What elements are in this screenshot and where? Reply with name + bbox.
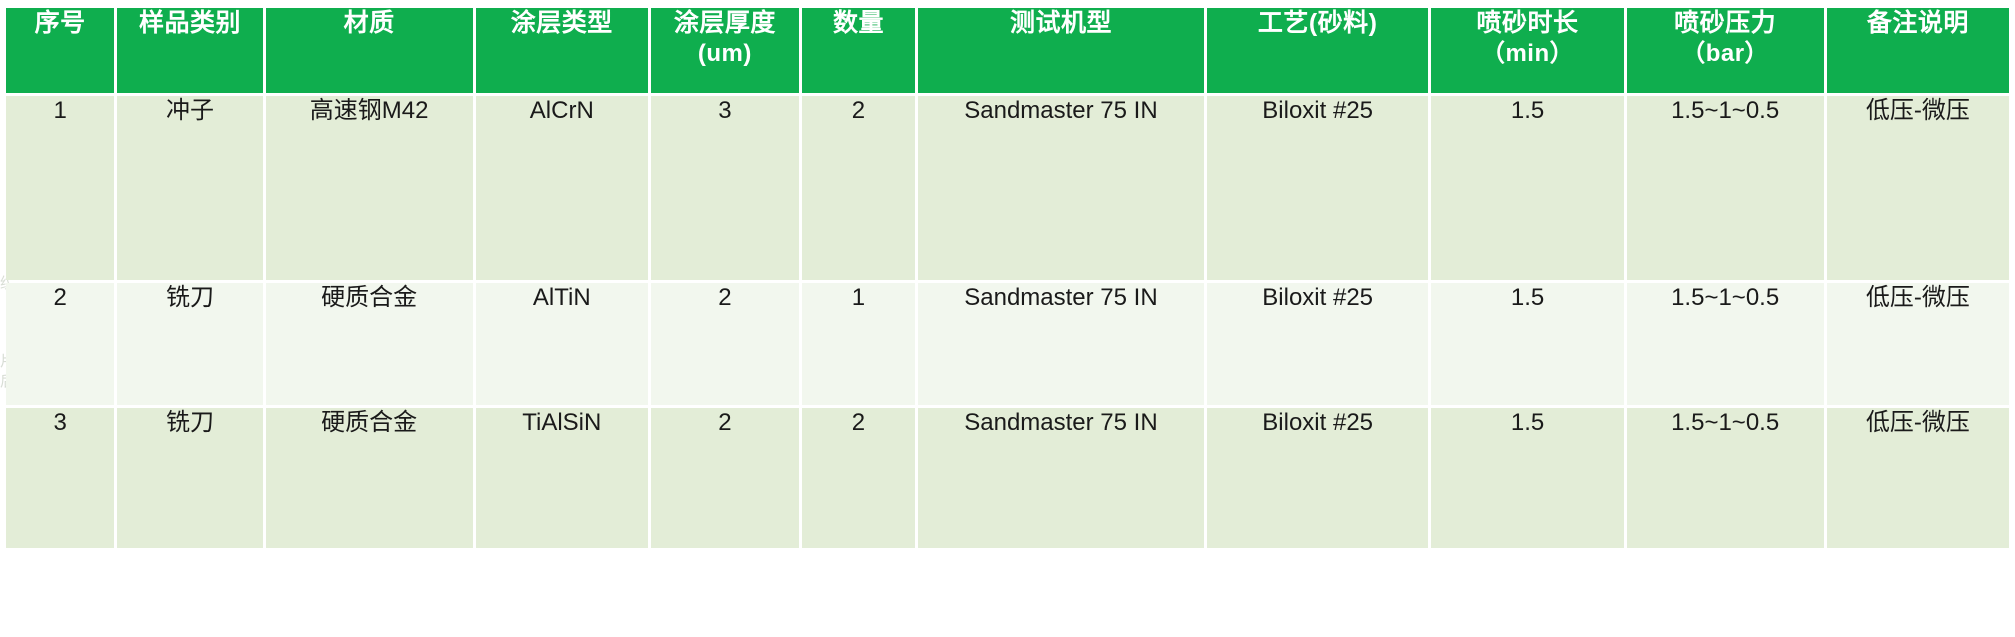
column-header-quantity: 数量 bbox=[802, 8, 915, 93]
column-header-coating-thickness-label: 涂层厚度 bbox=[674, 9, 776, 37]
column-header-blast-time: 喷砂时长（min） bbox=[1431, 8, 1623, 93]
cell-quantity: 1 bbox=[802, 283, 915, 405]
column-header-seq: 序号 bbox=[6, 8, 114, 93]
cell-coating-thickness: 2 bbox=[651, 283, 799, 405]
cell-blast-time: 1.5 bbox=[1431, 283, 1623, 405]
cell-process-media: Biloxit #25 bbox=[1207, 408, 1429, 548]
cell-process-media: Biloxit #25 bbox=[1207, 96, 1429, 280]
column-header-blast-time-unit: （min） bbox=[1431, 39, 1623, 69]
table-header: 序号 样品类别 材质 涂层类型 涂层厚度(um) 数量 测试机型 工艺(砂料) … bbox=[6, 8, 2009, 93]
cell-sample-category: 铣刀 bbox=[117, 283, 262, 405]
cell-quantity: 2 bbox=[802, 96, 915, 280]
cell-remark: 低压-微压 bbox=[1827, 283, 2009, 405]
cell-blast-time: 1.5 bbox=[1431, 96, 1623, 280]
column-header-test-machine: 测试机型 bbox=[918, 8, 1204, 93]
column-header-remark: 备注说明 bbox=[1827, 8, 2009, 93]
column-header-blast-pressure-unit: （bar） bbox=[1627, 39, 1824, 69]
column-header-process-media-label: 工艺(砂料) bbox=[1258, 9, 1378, 37]
cell-blast-pressure: 1.5~1~0.5 bbox=[1627, 96, 1824, 280]
column-header-material-label: 材质 bbox=[344, 9, 395, 37]
cell-coating-thickness: 2 bbox=[651, 408, 799, 548]
cell-material: 硬质合金 bbox=[266, 283, 473, 405]
cell-material: 高速钢M42 bbox=[266, 96, 473, 280]
cell-quantity: 2 bbox=[802, 408, 915, 548]
cell-coating-type: TiAlSiN bbox=[476, 408, 648, 548]
cell-sample-category: 冲子 bbox=[117, 96, 262, 280]
column-header-blast-time-label: 喷砂时长 bbox=[1477, 9, 1579, 37]
cell-remark: 低压-微压 bbox=[1827, 96, 2009, 280]
cell-blast-time: 1.5 bbox=[1431, 408, 1623, 548]
cell-seq: 1 bbox=[6, 96, 114, 280]
cell-test-machine: Sandmaster 75 IN bbox=[918, 408, 1204, 548]
column-header-test-machine-label: 测试机型 bbox=[1010, 9, 1112, 37]
column-header-seq-label: 序号 bbox=[35, 9, 86, 37]
cell-coating-type: AlTiN bbox=[476, 283, 648, 405]
cell-test-machine: Sandmaster 75 IN bbox=[918, 283, 1204, 405]
spec-table-container: 序号 样品类别 材质 涂层类型 涂层厚度(um) 数量 测试机型 工艺(砂料) … bbox=[0, 0, 2015, 637]
cell-material: 硬质合金 bbox=[266, 408, 473, 548]
sandblasting-spec-table: 序号 样品类别 材质 涂层类型 涂层厚度(um) 数量 测试机型 工艺(砂料) … bbox=[3, 5, 2012, 551]
cell-test-machine: Sandmaster 75 IN bbox=[918, 96, 1204, 280]
table-body: 1 冲子 高速钢M42 AlCrN 3 2 Sandmaster 75 IN B… bbox=[6, 96, 2009, 548]
cell-coating-type: AlCrN bbox=[476, 96, 648, 280]
column-header-coating-thickness: 涂层厚度(um) bbox=[651, 8, 799, 93]
column-header-sample-category: 样品类别 bbox=[117, 8, 262, 93]
column-header-process-media: 工艺(砂料) bbox=[1207, 8, 1429, 93]
column-header-coating-thickness-unit: (um) bbox=[651, 39, 799, 69]
column-header-quantity-label: 数量 bbox=[833, 9, 884, 37]
column-header-blast-pressure: 喷砂压力（bar） bbox=[1627, 8, 1824, 93]
cell-coating-thickness: 3 bbox=[651, 96, 799, 280]
column-header-coating-type: 涂层类型 bbox=[476, 8, 648, 93]
cell-sample-category: 铣刀 bbox=[117, 408, 262, 548]
cell-seq: 2 bbox=[6, 283, 114, 405]
cell-seq: 3 bbox=[6, 408, 114, 548]
column-header-sample-category-label: 样品类别 bbox=[139, 9, 241, 37]
cell-blast-pressure: 1.5~1~0.5 bbox=[1627, 283, 1824, 405]
table-row: 2 铣刀 硬质合金 AlTiN 2 1 Sandmaster 75 IN Bil… bbox=[6, 283, 2009, 405]
cell-blast-pressure: 1.5~1~0.5 bbox=[1627, 408, 1824, 548]
table-row: 1 冲子 高速钢M42 AlCrN 3 2 Sandmaster 75 IN B… bbox=[6, 96, 2009, 280]
column-header-remark-label: 备注说明 bbox=[1867, 9, 1969, 37]
table-row: 3 铣刀 硬质合金 TiAlSiN 2 2 Sandmaster 75 IN B… bbox=[6, 408, 2009, 548]
cell-process-media: Biloxit #25 bbox=[1207, 283, 1429, 405]
cell-remark: 低压-微压 bbox=[1827, 408, 2009, 548]
column-header-blast-pressure-label: 喷砂压力 bbox=[1674, 9, 1776, 37]
column-header-coating-type-label: 涂层类型 bbox=[511, 9, 613, 37]
header-row: 序号 样品类别 材质 涂层类型 涂层厚度(um) 数量 测试机型 工艺(砂料) … bbox=[6, 8, 2009, 93]
column-header-material: 材质 bbox=[266, 8, 473, 93]
